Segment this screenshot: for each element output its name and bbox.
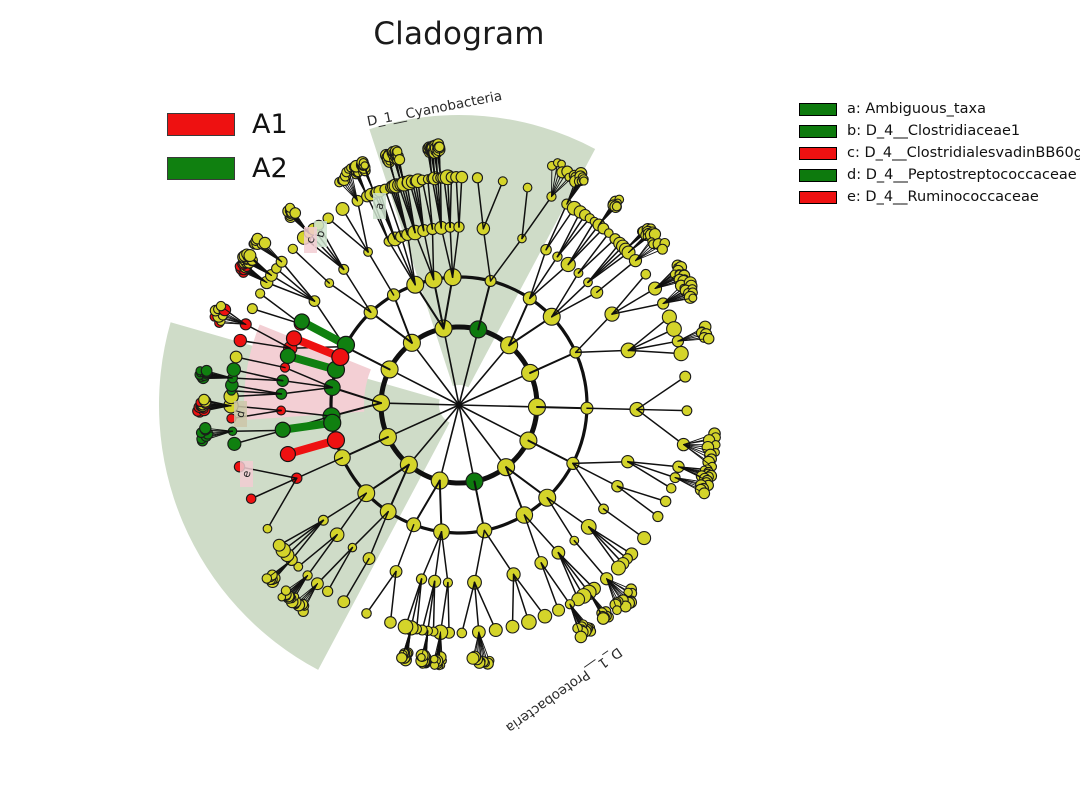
tree-node-l4 xyxy=(523,183,532,192)
leaf-node xyxy=(613,606,622,615)
clade-b-node xyxy=(280,348,295,363)
clade-d-node xyxy=(275,422,290,437)
tree-edge xyxy=(344,269,371,312)
tree-edge xyxy=(528,441,572,464)
leaf-node xyxy=(597,613,609,625)
tree-node-l4 xyxy=(246,494,255,503)
tree-edge xyxy=(276,268,314,301)
leaf-node xyxy=(201,365,212,376)
tree-edge xyxy=(628,341,677,350)
tree-node-l4 xyxy=(323,586,333,596)
tree-node-l4 xyxy=(230,351,242,363)
tree-edge xyxy=(604,509,645,538)
tree-edge xyxy=(573,463,617,486)
tree-node-l4 xyxy=(457,628,467,638)
tree-edge xyxy=(459,405,528,441)
tree-edge xyxy=(484,530,513,574)
tree-node-l4 xyxy=(336,203,349,216)
tree-edge xyxy=(628,350,681,353)
tree-node-l4 xyxy=(362,609,372,619)
clade-marker-d: d xyxy=(233,401,247,427)
tree-edge xyxy=(252,309,300,324)
tree-edge xyxy=(637,409,684,444)
leaf-node xyxy=(430,655,438,663)
leaf-node xyxy=(397,653,407,663)
tree-node-l4 xyxy=(398,619,413,634)
tree-edge xyxy=(524,515,541,563)
tree-node-l4 xyxy=(674,346,688,360)
tree-node-l4 xyxy=(234,334,246,346)
tree-edge xyxy=(537,407,587,408)
leaf-node xyxy=(262,574,271,583)
tree-edge xyxy=(271,275,314,301)
tree-node-l4 xyxy=(288,244,297,253)
tree-node-l4 xyxy=(667,484,676,493)
tree-node-l4 xyxy=(522,615,537,630)
tree-edge xyxy=(617,486,665,501)
tree-edge xyxy=(396,525,414,572)
leaf-node xyxy=(200,423,211,434)
tree-edge xyxy=(524,515,558,553)
leaf-node xyxy=(244,250,256,262)
leaf-node xyxy=(580,177,588,185)
tree-edge xyxy=(573,462,628,464)
tree-edge xyxy=(462,582,475,633)
clade-marker-a: a xyxy=(372,193,386,219)
leaf-node xyxy=(689,294,697,302)
leaf-node xyxy=(259,237,270,248)
tree-edge xyxy=(637,377,685,410)
leaf-node xyxy=(290,208,301,219)
tree-edge xyxy=(617,486,657,516)
tree-edge xyxy=(514,574,545,616)
leaf-node xyxy=(281,586,290,595)
tree-node-l4 xyxy=(338,596,350,608)
leaf-node xyxy=(435,142,444,151)
tree-node-l4 xyxy=(611,561,625,575)
tree-node-l4 xyxy=(385,617,397,629)
clade-marker-e: e xyxy=(239,461,253,487)
tree-edge xyxy=(329,283,371,312)
tree-node-l4 xyxy=(263,524,272,533)
leaf-node xyxy=(216,301,225,310)
tree-node-l4 xyxy=(538,609,552,623)
tree-edge xyxy=(541,563,558,610)
tree-node-l4 xyxy=(667,322,682,337)
cladogram-plot: abcde D_1__Cyanobacteria D_1__Proteobact… xyxy=(0,0,918,810)
tree-node-l4 xyxy=(553,604,565,616)
tree-edge xyxy=(475,530,485,582)
tree-edge xyxy=(547,498,574,541)
tree-node-l4 xyxy=(273,539,285,551)
tree-edge xyxy=(530,352,576,373)
tree-node-l4 xyxy=(228,437,241,450)
tree-node-l4 xyxy=(653,511,663,521)
clade-e-node xyxy=(280,447,295,462)
tree-edge xyxy=(414,481,440,525)
tree-edge xyxy=(576,350,629,352)
tree-node-l4 xyxy=(680,371,691,382)
clade-e-node xyxy=(327,432,344,449)
wedge-label-proteobacteria: D_1__Proteobacteria xyxy=(503,644,625,736)
tree-node-l4 xyxy=(638,532,651,545)
tree-node-l4 xyxy=(641,269,651,279)
leaf-node xyxy=(361,162,368,169)
leaf-node xyxy=(575,631,587,643)
clade-marker-c: c xyxy=(303,227,317,253)
tree-node-l4 xyxy=(256,289,265,298)
tree-edge xyxy=(573,463,604,509)
leaf-node xyxy=(657,244,667,254)
clade-a-node xyxy=(294,314,309,329)
tree-edge xyxy=(441,178,442,228)
leaf-node xyxy=(612,202,621,211)
leaf-node xyxy=(703,333,713,343)
tree-node-l4 xyxy=(472,173,482,183)
tree-edge xyxy=(513,574,514,626)
tree-edge xyxy=(368,252,394,295)
leaf-node xyxy=(467,652,479,664)
tree-node-l4 xyxy=(247,304,257,314)
tree-edge xyxy=(576,314,612,352)
leaf-node xyxy=(418,654,426,662)
leaf-node xyxy=(699,488,710,499)
leaf-node xyxy=(199,394,210,405)
clade-d-node xyxy=(324,414,341,431)
leaf-node xyxy=(394,155,404,165)
clade-c-node xyxy=(332,349,349,366)
tree-edge xyxy=(448,583,449,633)
tree-edge xyxy=(637,409,687,410)
tree-edge xyxy=(459,405,537,407)
tree-node-l4 xyxy=(489,624,502,637)
tree-node-l4 xyxy=(682,406,692,416)
tree-node-l4 xyxy=(456,171,467,182)
cladogram-svg: abcde D_1__Cyanobacteria D_1__Proteobact… xyxy=(0,0,918,810)
clade-c-node xyxy=(286,331,301,346)
tree-node-l4 xyxy=(227,363,240,376)
cladogram-figure: Cladogram A1 A2 a: Ambiguous_taxa b: D_4… xyxy=(0,0,1080,810)
tree-node-l4 xyxy=(660,496,670,506)
tree-node-l4 xyxy=(506,620,519,633)
tree-node-l4 xyxy=(498,177,507,186)
